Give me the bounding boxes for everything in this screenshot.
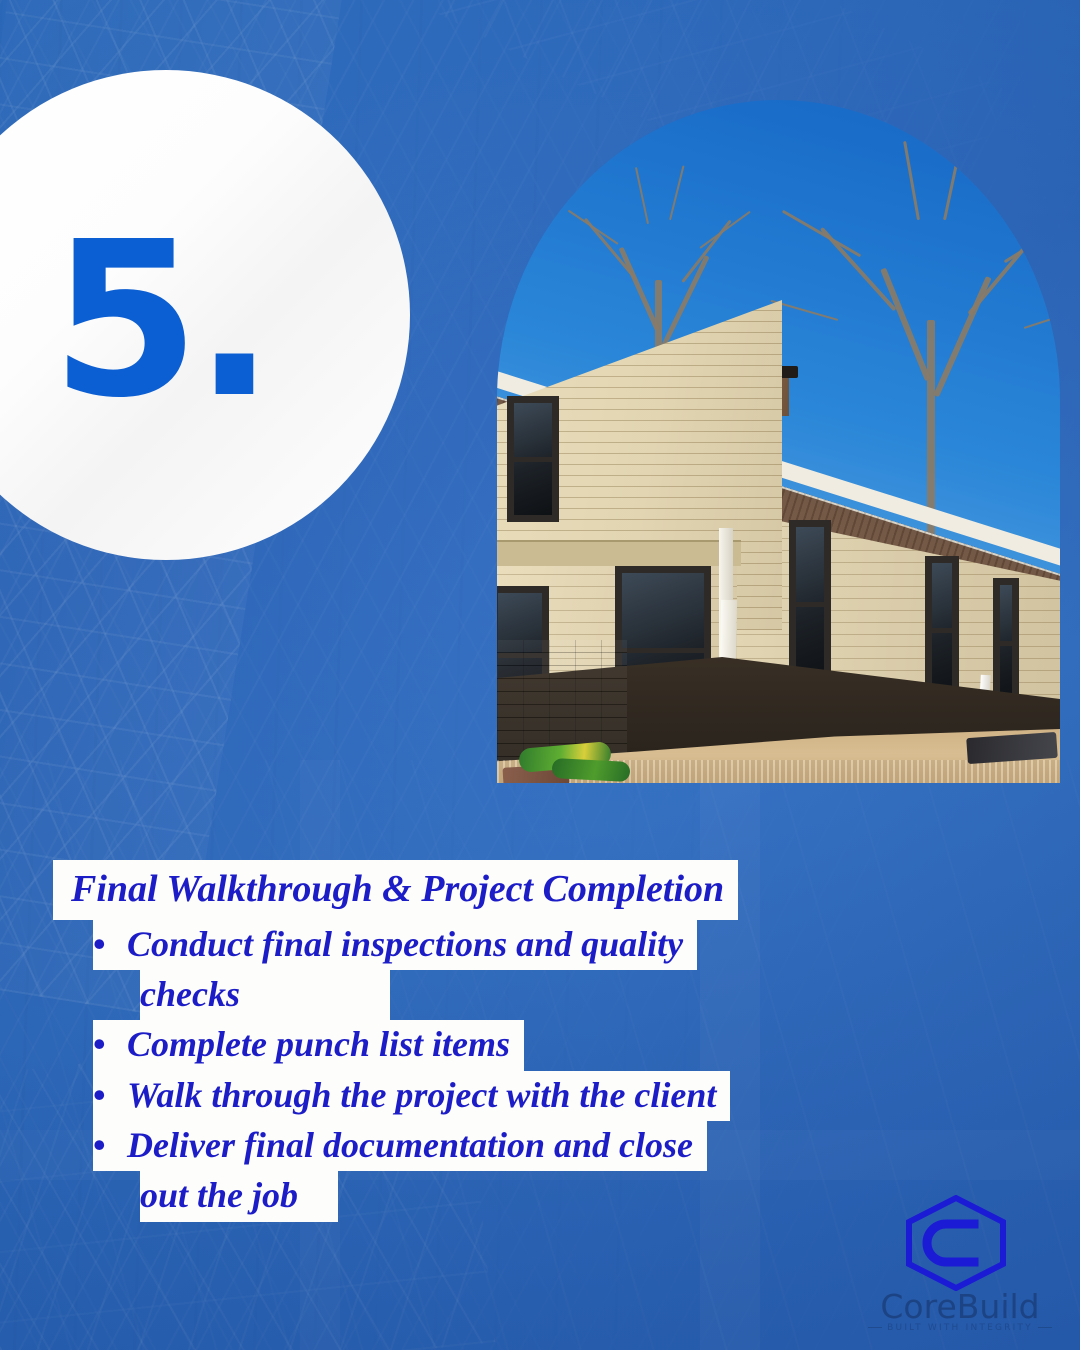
list-item: •Deliver final documentation and close [93,1121,1080,1171]
bullet-list: •Conduct final inspections and quality c… [0,920,1080,1222]
bullet-line-1a: Conduct final inspections and quality [127,924,683,964]
brand-logo: CoreBuild BUILT WITH INTEGRITY [860,1195,1060,1330]
step-number: 5. [51,225,269,418]
project-photo [497,100,1060,783]
tagline-dash-left [868,1327,882,1328]
bullet-line-1b: checks [140,970,390,1020]
bullet-marker-icon: • [93,1075,127,1115]
list-item: •Complete punch list items [93,1020,1080,1070]
photo-green-bag-2 [552,758,631,782]
logo-tagline: BUILT WITH INTEGRITY [887,1323,1033,1333]
bullet-line-4b: out the job [140,1171,338,1221]
bullet-text-3: •Walk through the project with the clien… [93,1071,730,1121]
slide-title: Final Walkthrough & Project Completion [53,860,738,920]
bullet-text-4: •Deliver final documentation and close [93,1121,707,1171]
logo-tagline-row: BUILT WITH INTEGRITY [860,1323,1060,1333]
social-post-canvas: 5. [0,0,1080,1350]
photo-window-gable [507,396,559,522]
photo-window-side-1 [789,520,831,690]
bullet-marker-icon: • [93,1125,127,1165]
bullet-line-3a: Walk through the project with the client [127,1075,716,1115]
bullet-line-2a: Complete punch list items [127,1024,510,1064]
list-item: •Walk through the project with the clien… [93,1071,1080,1121]
list-item: •Conduct final inspections and quality [93,920,1080,970]
photo-soffit [497,540,741,566]
tagline-dash-right [1038,1327,1052,1328]
logo-wordmark: CoreBuild [860,1287,1060,1326]
list-item-continuation: checks [140,970,1080,1020]
bullet-line-4a: Deliver final documentation and close [127,1125,693,1165]
hexagon-c-icon [902,1195,1010,1291]
bullet-text-1: •Conduct final inspections and quality [93,920,697,970]
content-text-block: Final Walkthrough & Project Completion •… [0,860,1080,1222]
bullet-marker-icon: • [93,1024,127,1064]
photo-window-side-3 [993,578,1019,708]
bullet-text-2: •Complete punch list items [93,1020,524,1070]
bullet-marker-icon: • [93,924,127,964]
slide-title-row: Final Walkthrough & Project Completion [53,860,1080,920]
